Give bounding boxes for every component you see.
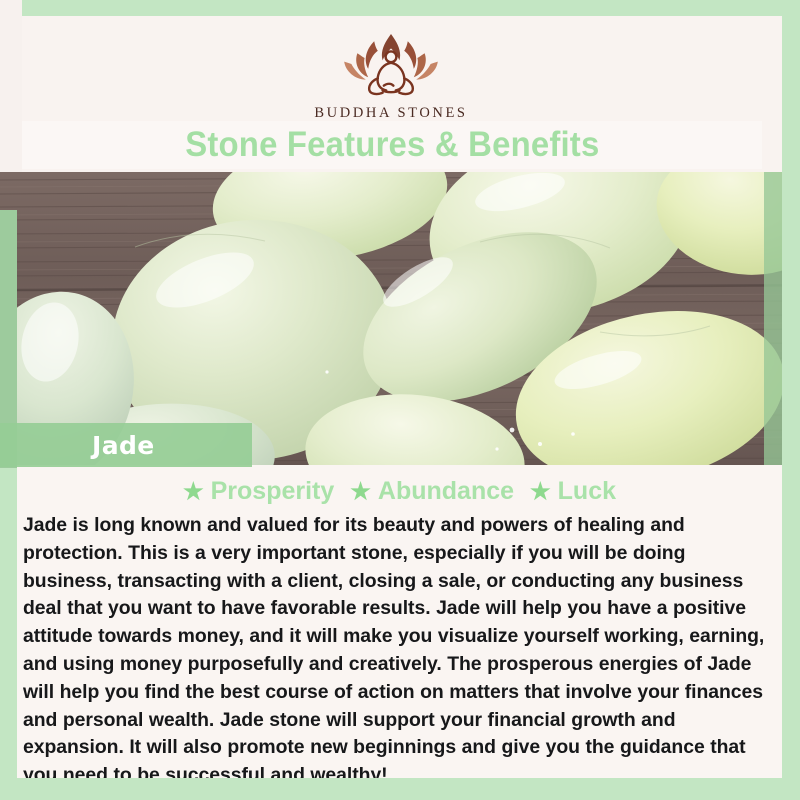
frame-corner-fill: [0, 0, 22, 172]
stone-name-label: Jade: [0, 423, 252, 467]
photo-illustration: [0, 172, 800, 465]
benefit-label: Luck: [558, 477, 616, 506]
star-icon: ★: [183, 480, 204, 503]
poster: BUDDHA STONES Stone Features & Benefits …: [0, 0, 800, 800]
benefit-label: Abundance: [378, 477, 514, 506]
title-banner: Stone Features & Benefits: [22, 121, 762, 169]
lotus-meditation-icon: [331, 28, 451, 100]
jade-stones-photo: [0, 172, 800, 465]
frame-right-photo-overlay: [764, 172, 782, 465]
content-area: ★ Prosperity ★ Abundance ★ Luck Jade is …: [17, 465, 782, 778]
benefit-item-abundance: ★ Abundance: [350, 477, 514, 506]
frame-right: [782, 0, 800, 800]
brand-logo: BUDDHA STONES: [314, 28, 467, 122]
brand-name: BUDDHA STONES: [314, 105, 467, 122]
frame-top: [0, 0, 800, 16]
star-icon: ★: [350, 480, 371, 503]
stone-name: Jade: [92, 431, 155, 460]
benefits-row: ★ Prosperity ★ Abundance ★ Luck: [17, 465, 782, 506]
star-icon: ★: [530, 480, 551, 503]
benefit-item-prosperity: ★ Prosperity: [183, 477, 334, 506]
benefit-item-luck: ★ Luck: [530, 477, 616, 506]
stone-description: Jade is long known and valued for its be…: [17, 512, 782, 790]
benefit-label: Prosperity: [211, 477, 335, 506]
page-title: Stone Features & Benefits: [185, 125, 599, 165]
frame-bottom: [0, 778, 800, 800]
